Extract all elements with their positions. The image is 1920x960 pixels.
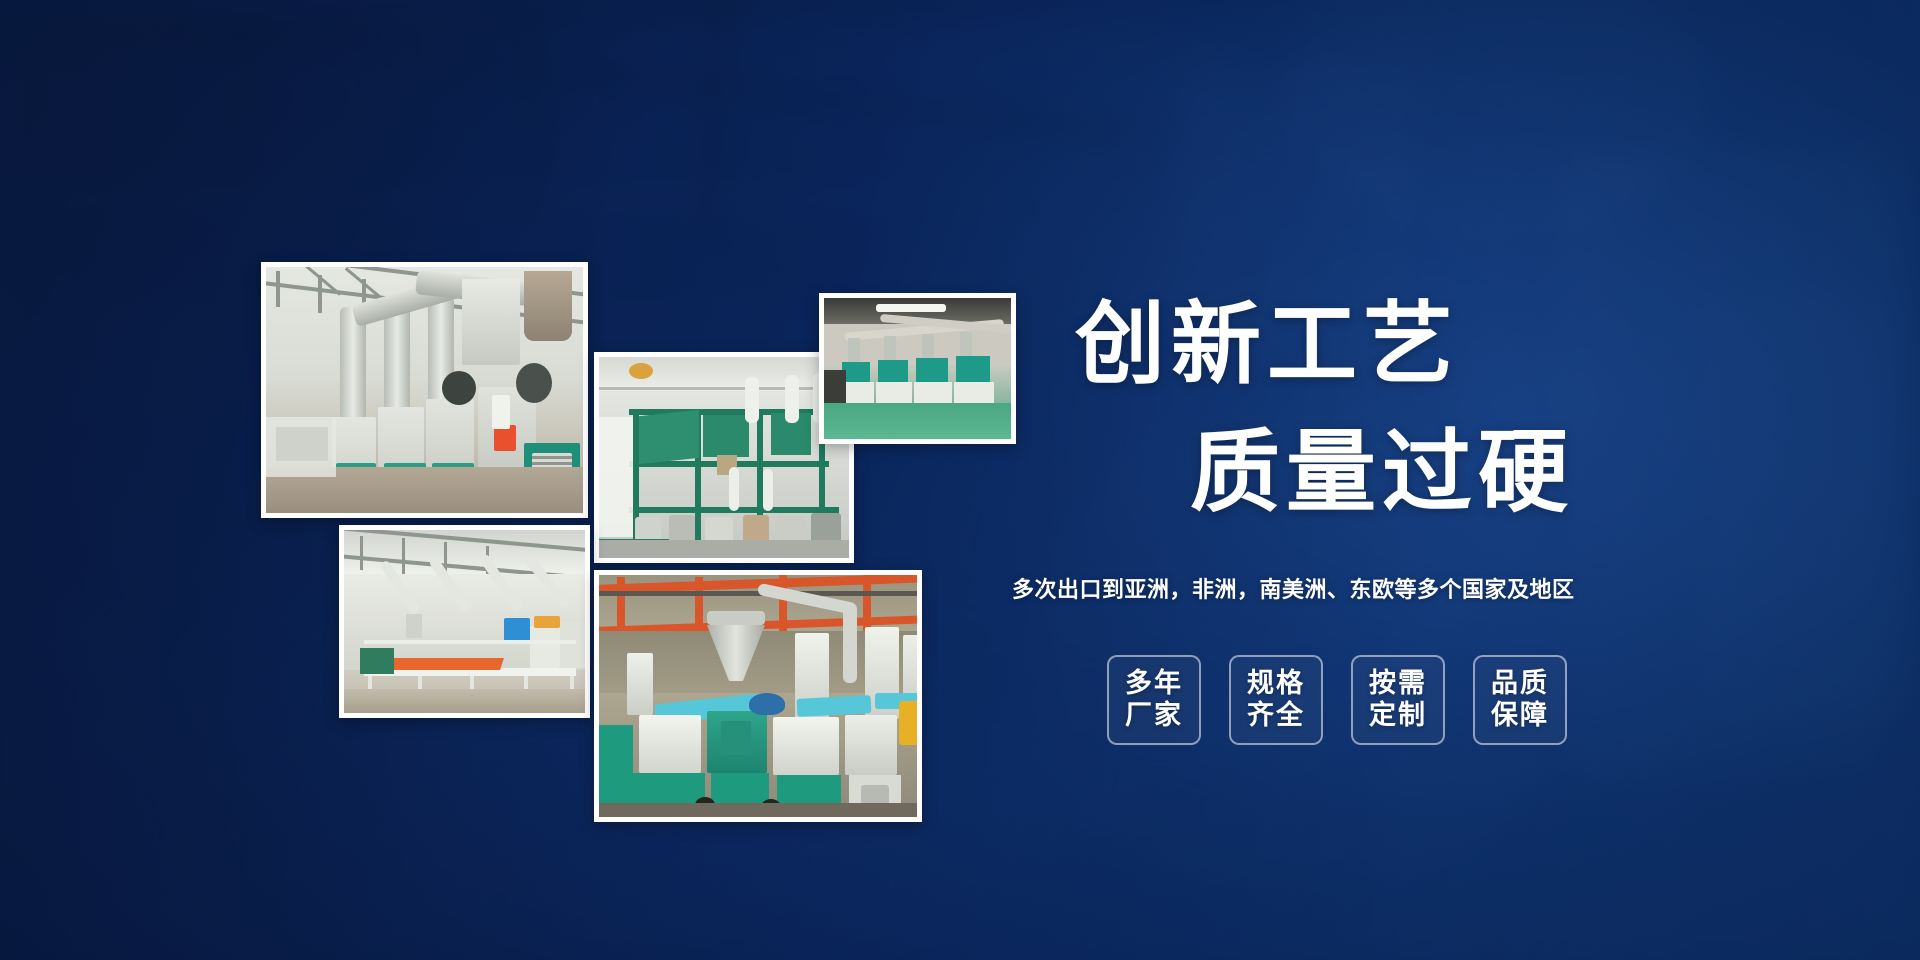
badge-line-1: 按需: [1369, 668, 1427, 700]
badge-line-1: 品质: [1491, 668, 1549, 700]
headline-line-2: 质量过硬: [1190, 428, 1574, 518]
badge-line-2: 齐全: [1247, 700, 1305, 732]
collage-photo-top-right[interactable]: [819, 293, 1016, 444]
feature-badge-full-specs[interactable]: 规格 齐全: [1229, 655, 1323, 745]
collage-photo-center[interactable]: [594, 352, 854, 563]
photo-image-top-right: [824, 298, 1011, 439]
feature-badge-quality-guarantee[interactable]: 品质 保障: [1473, 655, 1567, 745]
photo-image-top-left: [266, 267, 583, 513]
collage-photo-top-left[interactable]: [261, 262, 588, 518]
feature-badge-list: 多年 厂家 规格 齐全 按需 定制 品质 保障: [1107, 655, 1567, 745]
badge-line-2: 保障: [1491, 700, 1549, 732]
collage-photo-bottom-left[interactable]: [339, 525, 590, 718]
badge-line-1: 规格: [1247, 668, 1305, 700]
collage-photo-bottom-right[interactable]: [594, 570, 922, 822]
badge-line-1: 多年: [1125, 668, 1183, 700]
feature-badge-custom-made[interactable]: 按需 定制: [1351, 655, 1445, 745]
photo-image-bottom-left: [344, 530, 585, 713]
feature-badge-years-manufacturer[interactable]: 多年 厂家: [1107, 655, 1201, 745]
photo-image-center: [599, 357, 849, 558]
promo-banner: 创新工艺 质量过硬 多次出口到亚洲，非洲，南美洲、东欧等多个国家及地区 多年 厂…: [0, 0, 1920, 960]
badge-line-2: 厂家: [1125, 700, 1183, 732]
subtitle-text: 多次出口到亚洲，非洲，南美洲、东欧等多个国家及地区: [1012, 572, 1575, 604]
headline-line-1: 创新工艺: [1075, 300, 1459, 390]
badge-line-2: 定制: [1369, 700, 1427, 732]
photo-image-bottom-right: [599, 575, 917, 817]
